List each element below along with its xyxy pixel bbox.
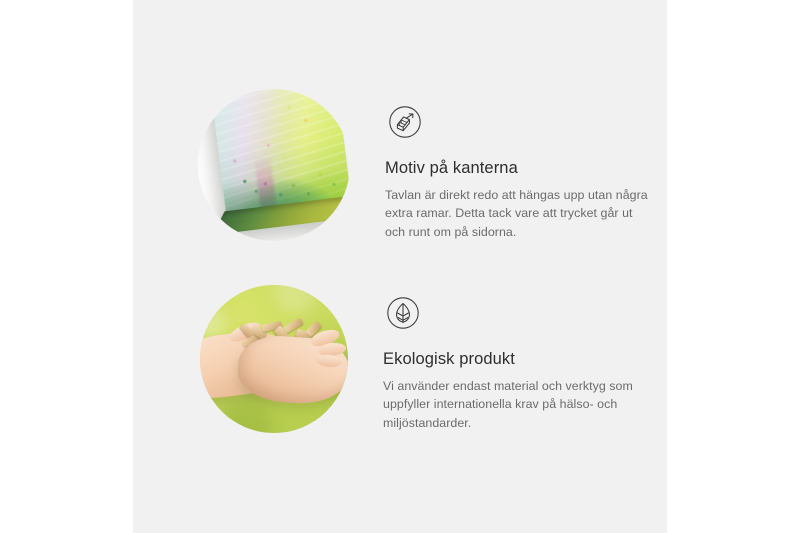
feature-title: Ekologisk produkt [383,350,659,370]
feature-text-block: Motiv på kanterna Tavlan är direkt redo … [385,89,653,241]
content-panel: Motiv på kanterna Tavlan är direkt redo … [133,0,667,533]
hands-holding-wood-chips-photo [200,285,348,433]
feature-description: Vi använder endast material och verktyg … [383,377,659,432]
canvas-print-corner-photo [198,89,350,241]
canvas-photo-scene [198,89,350,241]
canvas-print-block [211,89,350,241]
feature-item-ekologisk-produkt: Ekologisk produkt Vi använder endast mat… [200,285,659,433]
feature-item-motiv-pa-kanterna: Motiv på kanterna Tavlan är direkt redo … [198,89,653,241]
product-feature-panel: Motiv på kanterna Tavlan är direkt redo … [0,0,800,533]
eco-photo-scene [200,285,348,433]
feature-description: Tavlan är direkt redo att hängas upp uta… [385,186,653,241]
feature-title: Motiv på kanterna [385,159,653,179]
canvas-wrapped-edge-icon [385,102,653,147]
leaf-icon [383,293,659,338]
feature-text-block: Ekologisk produkt Vi använder endast mat… [383,285,659,432]
